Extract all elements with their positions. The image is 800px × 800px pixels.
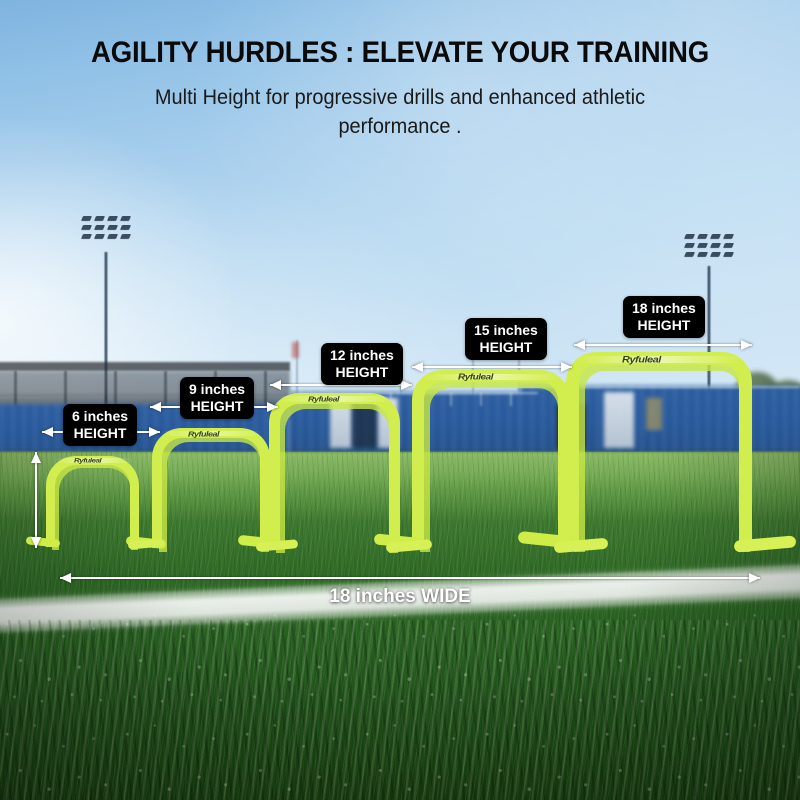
header-block: AGILITY HURDLES : ELEVATE YOUR TRAINING — [0, 36, 800, 70]
hurdle-6-inch[interactable]: Ryfuleal — [44, 456, 152, 550]
measure-arrow-vertical-height — [29, 452, 42, 548]
badge-9-inch: 9 inches HEIGHT — [180, 377, 254, 419]
badge-15-inch-label: HEIGHT — [474, 339, 538, 356]
hurdle-9-inch[interactable]: Ryfuleal — [150, 428, 284, 552]
badge-15-inch: 15 inches HEIGHT — [465, 318, 547, 360]
badge-12-inch: 12 inches HEIGHT — [321, 343, 403, 385]
badge-6-inch-label: HEIGHT — [72, 425, 128, 442]
measure-arrow-18-inch — [574, 338, 752, 351]
hurdle-15-inch[interactable]: Ryfuleal — [408, 370, 586, 552]
badge-12-inch-value: 12 inches — [330, 347, 394, 364]
brand-logo: Ryfuleal — [458, 373, 493, 382]
brand-logo: Ryfuleal — [74, 457, 101, 464]
page-title: AGILITY HURDLES : ELEVATE YOUR TRAINING — [32, 36, 768, 70]
brand-logo: Ryfuleal — [188, 430, 219, 438]
subtitle-line-2: performance . — [20, 113, 780, 142]
badge-6-inch-value: 6 inches — [72, 408, 128, 425]
brand-logo: Ryfuleal — [308, 395, 339, 403]
badge-15-inch-value: 15 inches — [474, 322, 538, 339]
brand-logo: Ryfuleal — [622, 355, 661, 365]
measure-arrow-15-inch — [412, 360, 572, 373]
grandstand-roof — [0, 362, 290, 371]
product-infographic: Ryfuleal Ryfuleal Ryfuleal Ryfuleal Ryfu… — [0, 0, 800, 800]
hurdle-12-inch[interactable]: Ryfuleal — [266, 393, 414, 553]
badge-18-inch-label: HEIGHT — [632, 317, 696, 334]
hurdle-18-inch[interactable]: Ryfuleal — [560, 352, 770, 552]
badge-9-inch-value: 9 inches — [189, 381, 245, 398]
badge-12-inch-label: HEIGHT — [330, 364, 394, 381]
width-label: 18 inches WIDE — [0, 586, 800, 608]
subtitle-block: Multi Height for progressive drills and … — [0, 84, 800, 142]
measure-arrow-overall-width — [60, 571, 760, 584]
badge-18-inch-value: 18 inches — [632, 300, 696, 317]
far-flag — [292, 342, 299, 358]
badge-6-inch: 6 inches HEIGHT — [63, 404, 137, 446]
subtitle-line-1: Multi Height for progressive drills and … — [20, 84, 780, 113]
badge-9-inch-label: HEIGHT — [189, 398, 245, 415]
badge-18-inch: 18 inches HEIGHT — [623, 296, 705, 338]
